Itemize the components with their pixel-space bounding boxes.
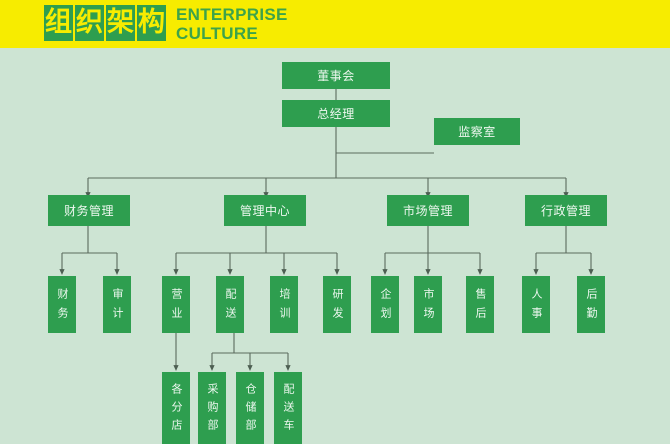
- node-logistics-dept[interactable]: 后勤: [577, 276, 605, 333]
- title-char-2: 织: [75, 5, 104, 41]
- title-chinese: 组 织 架 构: [44, 5, 166, 41]
- node-management-center[interactable]: 管理中心: [224, 195, 306, 226]
- node-training-dept[interactable]: 培训: [270, 276, 298, 333]
- node-branch-stores[interactable]: 各分店: [162, 372, 190, 444]
- title-char-4: 构: [137, 5, 166, 41]
- node-hr-dept[interactable]: 人事: [522, 276, 550, 333]
- title-english-line1: ENTERPRISE: [176, 5, 288, 24]
- title-english: ENTERPRISE CULTURE: [176, 5, 288, 43]
- node-delivery-truck[interactable]: 配送车: [274, 372, 302, 444]
- node-general-manager[interactable]: 总经理: [282, 100, 390, 127]
- node-board-of-directors[interactable]: 董事会: [282, 62, 390, 89]
- org-chart: 董事会 总经理 监察室 财务管理 管理中心 市场管理 行政管理 财务 审计 营业…: [0, 48, 670, 410]
- header-band: 组 织 架 构 ENTERPRISE CULTURE: [0, 0, 670, 48]
- node-finance-dept[interactable]: 财务: [48, 276, 76, 333]
- node-operations-dept[interactable]: 营业: [162, 276, 190, 333]
- node-finance-management[interactable]: 财务管理: [48, 195, 130, 226]
- node-distribution-dept[interactable]: 配送: [216, 276, 244, 333]
- node-rnd-dept[interactable]: 研发: [323, 276, 351, 333]
- node-supervision-office[interactable]: 监察室: [434, 118, 520, 145]
- node-admin-management[interactable]: 行政管理: [525, 195, 607, 226]
- node-planning-dept[interactable]: 企划: [371, 276, 399, 333]
- title-char-1: 组: [44, 5, 73, 41]
- node-warehouse-dept[interactable]: 仓储部: [236, 372, 264, 444]
- node-market-management[interactable]: 市场管理: [387, 195, 469, 226]
- title-char-3: 架: [106, 5, 135, 41]
- node-audit-dept[interactable]: 审计: [103, 276, 131, 333]
- node-purchasing-dept[interactable]: 采购部: [198, 372, 226, 444]
- node-marketing-dept[interactable]: 市场: [414, 276, 442, 333]
- title-english-line2: CULTURE: [176, 24, 288, 43]
- node-after-sales-dept[interactable]: 售后: [466, 276, 494, 333]
